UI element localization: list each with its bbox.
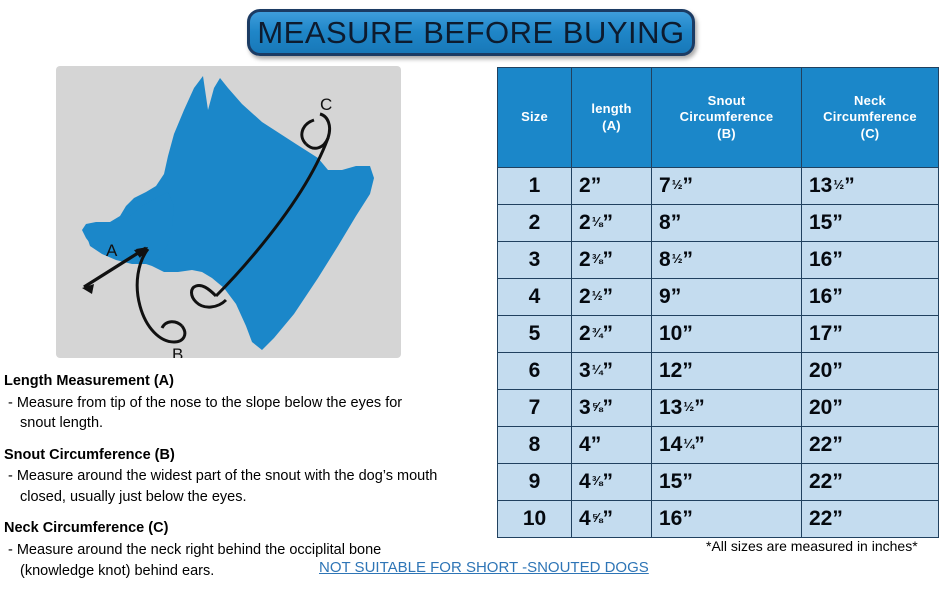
cell-snout: 8” [652, 205, 802, 242]
instruction-neck-title: Neck Circumference (C) [4, 519, 490, 539]
dog-illustration-panel: A B C [56, 66, 401, 358]
cell-snout: 10” [652, 316, 802, 353]
cell-snout: 14 ¼” [652, 427, 802, 464]
cell-size: 10 [498, 501, 572, 538]
label-c: C [320, 95, 332, 114]
column-header-length-line2: (A) [602, 118, 621, 133]
cell-size: 1 [498, 168, 572, 205]
label-b: B [172, 345, 183, 358]
cell-size: 5 [498, 316, 572, 353]
cell-length: 2 ½” [572, 279, 652, 316]
table-header-row: Size length (A) Snout Circumference (B) … [498, 68, 939, 168]
column-header-neck-line1: Neck [854, 93, 886, 108]
table-body: 12”7 ½”13 ½”22 ⅛”8”15”32 ⅜”8 ½”16”42 ½”9… [498, 168, 939, 538]
cell-size: 4 [498, 279, 572, 316]
cell-size: 8 [498, 427, 572, 464]
column-header-size-line1: Size [521, 109, 548, 124]
cell-size: 7 [498, 390, 572, 427]
instruction-snout-line1: - Measure around the widest part of the … [8, 468, 437, 484]
table-row: 52 ¾”10”17” [498, 316, 939, 353]
cell-length: 2 ⅛” [572, 205, 652, 242]
table-row: 12”7 ½”13 ½” [498, 168, 939, 205]
cell-neck: 20” [802, 353, 939, 390]
cell-size: 3 [498, 242, 572, 279]
cell-neck: 13 ½” [802, 168, 939, 205]
instruction-length-body: - Measure from tip of the nose to the sl… [4, 393, 490, 434]
cell-length: 3 ¼” [572, 353, 652, 390]
column-header-neck-line3: (C) [861, 126, 880, 141]
instruction-snout-title: Snout Circumference (B) [4, 446, 490, 466]
column-header-length-line1: length [591, 101, 631, 116]
instruction-length: Length Measurement (A) - Measure from ti… [4, 372, 490, 434]
column-header-snout-line1: Snout [708, 93, 746, 108]
instruction-neck-line1: - Measure around the neck right behind t… [8, 542, 381, 558]
table-row: 42 ½”9”16” [498, 279, 939, 316]
title-banner-text: MEASURE BEFORE BUYING [257, 15, 684, 51]
cell-length: 4” [572, 427, 652, 464]
cell-neck: 16” [802, 279, 939, 316]
cell-length: 2 ¾” [572, 316, 652, 353]
cell-length: 3 ⅝” [572, 390, 652, 427]
table-row: 22 ⅛”8”15” [498, 205, 939, 242]
cell-snout: 15” [652, 464, 802, 501]
column-header-length: length (A) [572, 68, 652, 168]
table-row: 73 ⅝”13 ½”20” [498, 390, 939, 427]
instruction-length-line2: snout length. [8, 413, 490, 434]
cell-snout: 7 ½” [652, 168, 802, 205]
dog-head-silhouette [82, 76, 374, 350]
dog-head-diagram: A B C [56, 66, 401, 358]
cell-snout: 9” [652, 279, 802, 316]
instruction-length-title: Length Measurement (A) [4, 372, 490, 392]
instruction-snout: Snout Circumference (B) - Measure around… [4, 446, 490, 508]
all-sizes-inches-note: *All sizes are measured in inches* [706, 538, 918, 554]
cell-neck: 16” [802, 242, 939, 279]
cell-length: 4 ⅝” [572, 501, 652, 538]
column-header-size: Size [498, 68, 572, 168]
column-header-neck: Neck Circumference (C) [802, 68, 939, 168]
cell-neck: 22” [802, 427, 939, 464]
cell-snout: 12” [652, 353, 802, 390]
cell-size: 2 [498, 205, 572, 242]
instruction-length-line1: - Measure from tip of the nose to the sl… [8, 395, 402, 411]
cell-snout: 16” [652, 501, 802, 538]
table-row: 84”14 ¼”22” [498, 427, 939, 464]
column-header-neck-line2: Circumference [823, 109, 917, 124]
table-row: 104 ⅝”16”22” [498, 501, 939, 538]
cell-neck: 17” [802, 316, 939, 353]
cell-length: 2 ⅜” [572, 242, 652, 279]
column-header-snout: Snout Circumference (B) [652, 68, 802, 168]
cell-length: 4 ⅜” [572, 464, 652, 501]
cell-size: 9 [498, 464, 572, 501]
cell-snout: 8 ½” [652, 242, 802, 279]
table-row: 63 ¼”12”20” [498, 353, 939, 390]
table-row: 94 ⅜”15”22” [498, 464, 939, 501]
instruction-snout-line2: closed, usually just below the eyes. [8, 487, 490, 508]
cell-length: 2” [572, 168, 652, 205]
cell-neck: 22” [802, 464, 939, 501]
cell-neck: 22” [802, 501, 939, 538]
cell-neck: 20” [802, 390, 939, 427]
not-suitable-link[interactable]: NOT SUITABLE FOR SHORT -SNOUTED DOGS [319, 559, 649, 576]
cell-snout: 13 ½” [652, 390, 802, 427]
table-row: 32 ⅜”8 ½”16” [498, 242, 939, 279]
cell-size: 6 [498, 353, 572, 390]
cell-neck: 15” [802, 205, 939, 242]
size-chart-table: Size length (A) Snout Circumference (B) … [497, 67, 939, 538]
title-banner: MEASURE BEFORE BUYING [247, 9, 695, 56]
instruction-snout-body: - Measure around the widest part of the … [4, 466, 490, 507]
column-header-snout-line3: (B) [717, 126, 736, 141]
column-header-snout-line2: Circumference [680, 109, 774, 124]
label-a: A [106, 241, 118, 260]
